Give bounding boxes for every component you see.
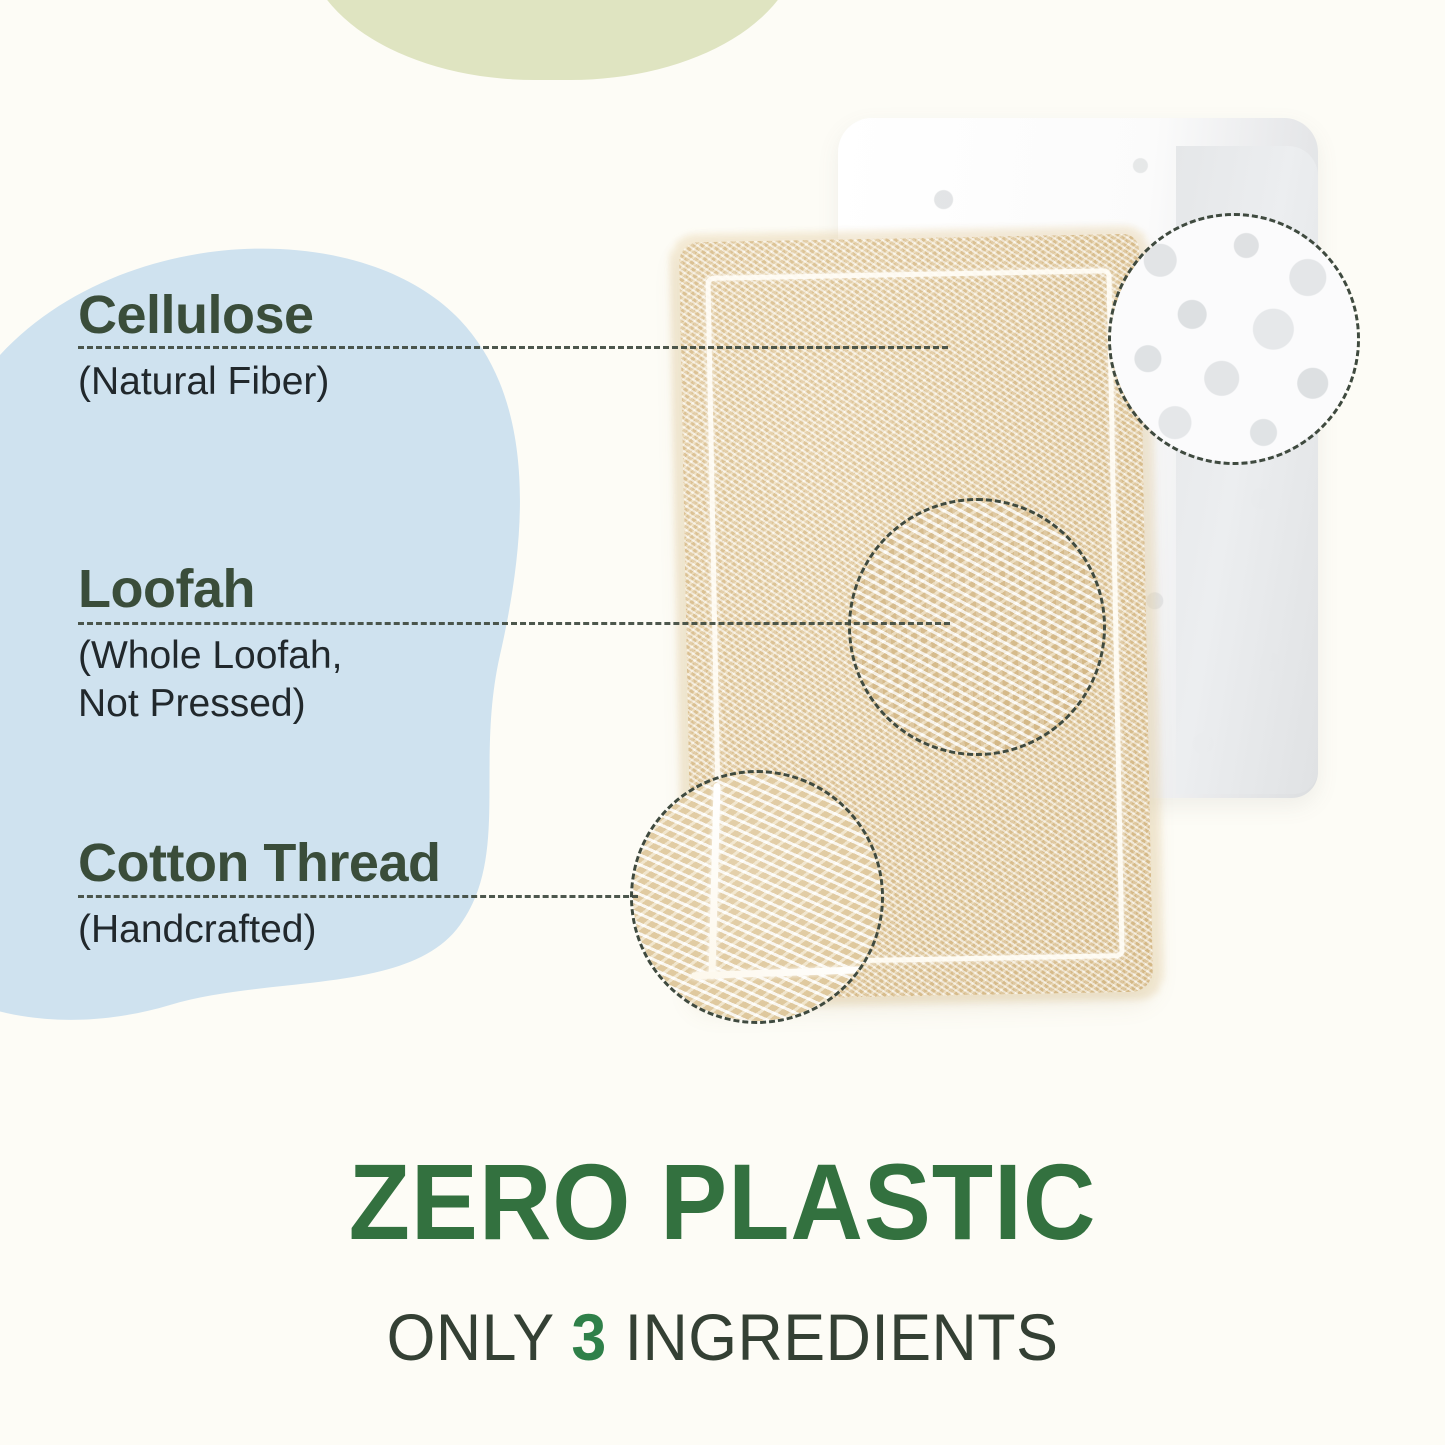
cotton-thread-horizontal-strand (691, 966, 881, 980)
subheadline-prefix: ONLY (387, 1300, 572, 1374)
green-blob-decoration (305, 0, 800, 80)
ingredient-label-cotton-thread: Cotton Thread (Handcrafted) (78, 836, 440, 954)
ingredient-subtitle-cellulose: (Natural Fiber) (78, 358, 329, 406)
loofah-magnifier-circle-icon (848, 498, 1106, 756)
ingredient-subtitle-cotton-thread: (Handcrafted) (78, 906, 440, 954)
cellulose-magnifier-circle-icon (1108, 213, 1360, 465)
ingredient-label-cellulose: Cellulose (Natural Fiber) (78, 288, 329, 406)
ingredient-title-cotton-thread: Cotton Thread (78, 836, 440, 890)
ingredient-title-cellulose: Cellulose (78, 288, 329, 342)
cotton-thread-vertical-strand (708, 783, 720, 979)
subheadline-suffix: INGREDIENTS (607, 1300, 1059, 1374)
infographic-canvas: Cellulose (Natural Fiber) Loofah (Whole … (0, 0, 1445, 1445)
subheadline-count: 3 (571, 1300, 606, 1374)
subheadline-ingredient-count: ONLY 3 INGREDIENTS (36, 1304, 1409, 1370)
ingredient-label-loofah: Loofah (Whole Loofah, Not Pressed) (78, 562, 343, 727)
cotton-thread-magnifier-circle-icon (630, 770, 884, 1024)
headline-zero-plastic: ZERO PLASTIC (51, 1148, 1395, 1256)
ingredient-subtitle-loofah: (Whole Loofah, Not Pressed) (78, 632, 343, 727)
cotton-thread-texture (633, 773, 881, 1021)
loofah-fiber-texture (851, 501, 1103, 753)
ingredient-title-loofah: Loofah (78, 562, 343, 616)
cellulose-pore-texture (1111, 216, 1357, 462)
